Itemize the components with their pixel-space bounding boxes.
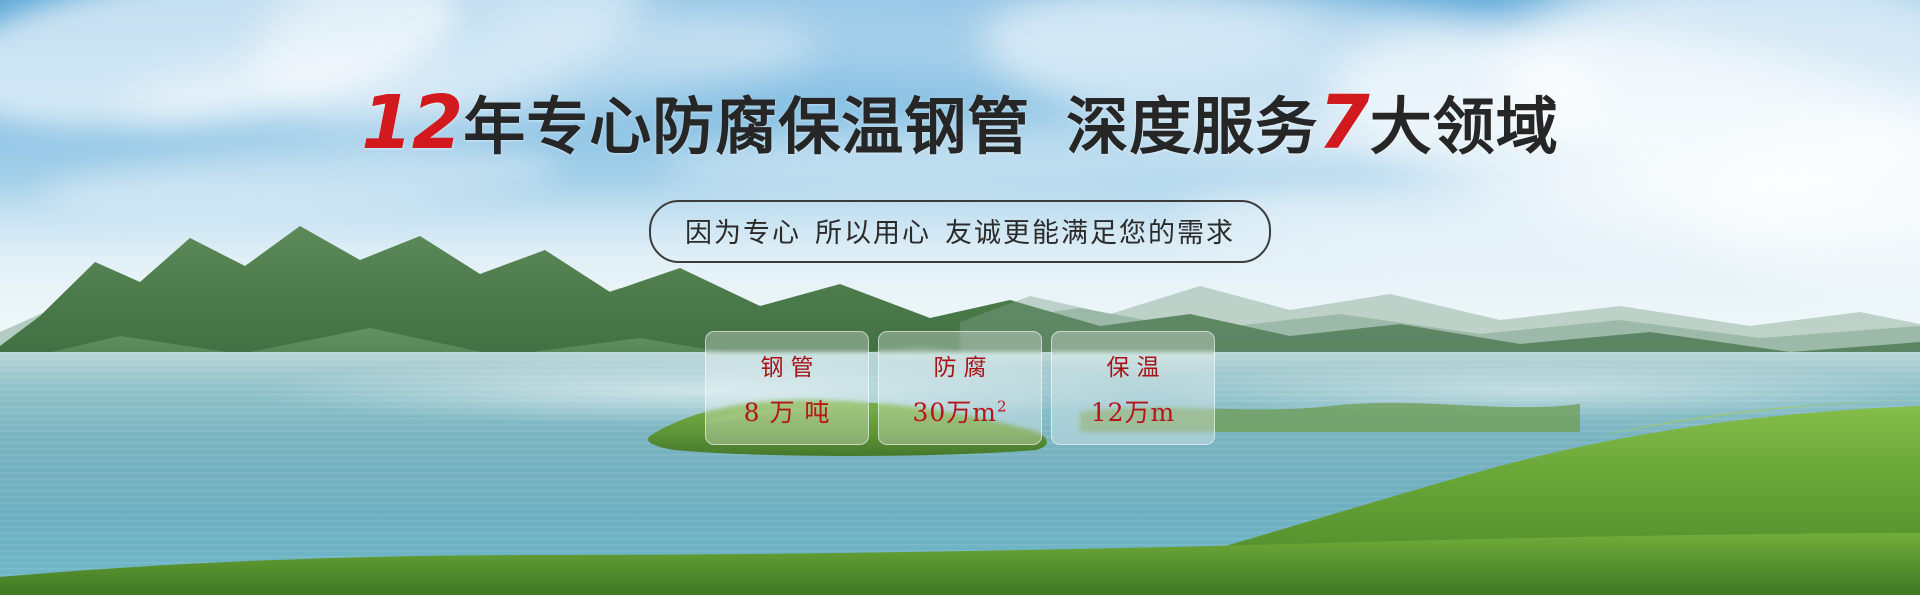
banner-content: 12年专心防腐保温钢管深度服务7大领域 因为专心所以用心友诚更能满足您的需求 钢… bbox=[0, 0, 1920, 595]
headline-part-one: 年专心防腐保温钢管 bbox=[463, 90, 1030, 163]
stat-value: 30万m2 bbox=[912, 393, 1007, 429]
stat-value-text: 12万m bbox=[1091, 398, 1176, 427]
hero-banner: 12年专心防腐保温钢管深度服务7大领域 因为专心所以用心友诚更能满足您的需求 钢… bbox=[0, 0, 1920, 595]
stat-value-text: 8 万 吨 bbox=[744, 398, 831, 427]
stat-card-group: 钢管 8 万 吨 防腐 30万m2 保温 12万m bbox=[705, 331, 1215, 445]
headline-part-three: 大领域 bbox=[1370, 90, 1559, 163]
stat-card-steel-pipe: 钢管 8 万 吨 bbox=[705, 331, 869, 445]
slogan-segment-2: 所以用心 bbox=[815, 218, 931, 249]
stat-title: 保温 bbox=[1100, 348, 1167, 382]
stat-value-exponent: 2 bbox=[997, 397, 1008, 415]
stat-title: 防腐 bbox=[927, 348, 994, 382]
stat-value: 12万m bbox=[1091, 393, 1176, 429]
stat-card-anticorrosion: 防腐 30万m2 bbox=[878, 331, 1042, 445]
slogan-segment-3: 友诚更能满足您的需求 bbox=[945, 218, 1235, 249]
headline-fields-number: 7 bbox=[1318, 80, 1369, 166]
banner-headline: 12年专心防腐保温钢管深度服务7大领域 bbox=[0, 86, 1920, 160]
stat-value: 8 万 吨 bbox=[744, 393, 831, 429]
slogan-pill: 因为专心所以用心友诚更能满足您的需求 bbox=[649, 200, 1271, 263]
stat-title: 钢管 bbox=[754, 348, 821, 382]
headline-years-number: 12 bbox=[361, 80, 462, 166]
stat-value-text: 30万m bbox=[912, 398, 997, 427]
slogan-segment-1: 因为专心 bbox=[685, 218, 801, 249]
headline-part-two: 深度服务 bbox=[1066, 90, 1318, 163]
stat-card-insulation: 保温 12万m bbox=[1051, 331, 1215, 445]
